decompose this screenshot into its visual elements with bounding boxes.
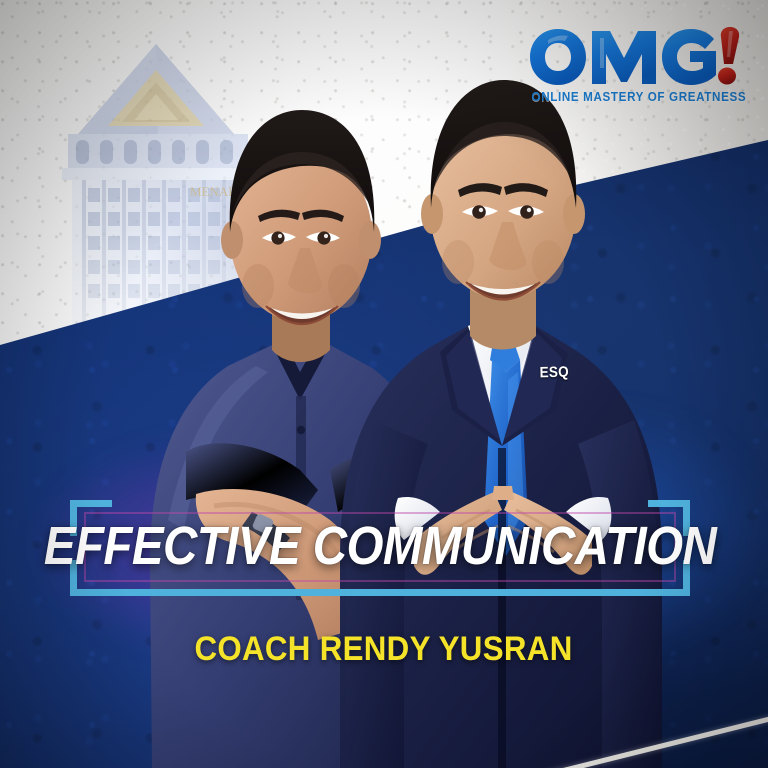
- headline-text: EFFECTIVE COMMUNICATION: [44, 519, 716, 573]
- esq-suit-badge: ESQ: [539, 364, 569, 382]
- poster-canvas: MENARA: [0, 0, 768, 768]
- presenter-name-text: COACH RENDY YUSRAN: [195, 630, 573, 669]
- presenter-name: COACH RENDY YUSRAN: [0, 630, 768, 669]
- headline: EFFECTIVE COMMUNICATION: [70, 496, 690, 596]
- omg-tagline: ONLINE MASTERY OF GREATNESS: [532, 90, 733, 104]
- omg-logo: ONLINE MASTERY OF GREATNESS: [524, 26, 740, 104]
- omg-wordmark-icon: [524, 26, 740, 88]
